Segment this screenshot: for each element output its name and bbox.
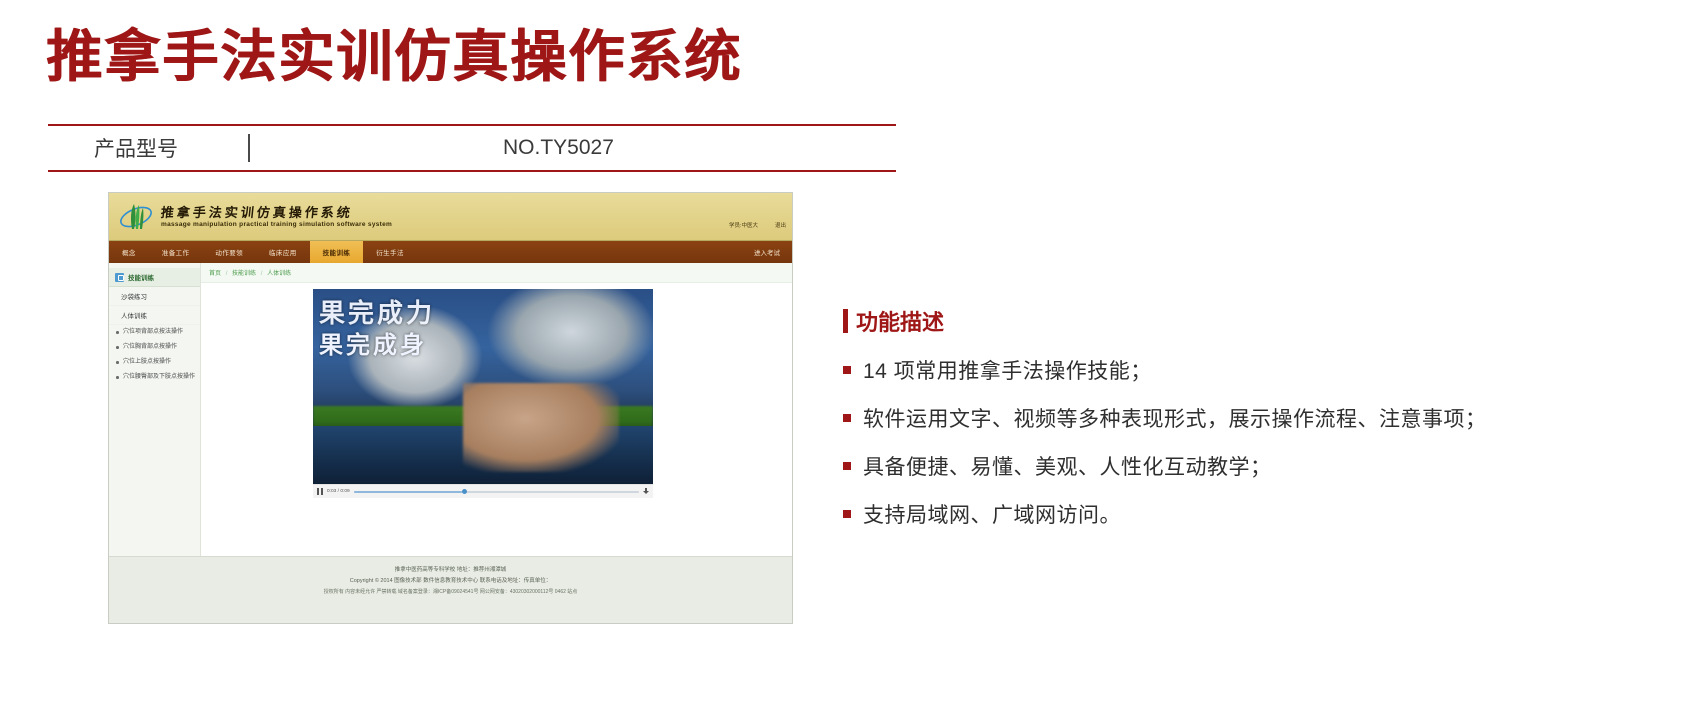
model-divider	[248, 134, 250, 162]
sidebar-sub-item-3[interactable]: 穴位上肢点按操作	[109, 355, 200, 370]
feature-accent-bar	[843, 309, 848, 333]
footer-line-1: 推拿中医药高等专科学校 地址：推荐州湘潭城	[109, 565, 792, 576]
feature-item-text: 软件运用文字、视频等多种表现形式，展示操作流程、注意事项；	[863, 403, 1487, 437]
model-label: 产品型号	[94, 133, 178, 163]
monitor-icon	[115, 273, 124, 282]
app-subtitle: massage manipulation practical training …	[161, 221, 392, 228]
video-hand-blur	[463, 383, 619, 473]
app-main: 首页 / 技能训练 / 人体训练 果完成力 果完成身 0:03 / 0:09	[201, 263, 792, 556]
app-nav: 概念 准备工作 动作要领 临床应用 技能训练 衍生手法 进入考试	[109, 241, 792, 263]
footer-line-2: Copyright © 2014 图像技术部 数件信息教育技术中心 联系电话及地…	[109, 576, 792, 587]
enter-exam-button[interactable]: 进入考试	[742, 241, 792, 263]
sidebar-sub-item-4[interactable]: 穴位腰臀部及下肢点按操作	[109, 370, 200, 385]
app-body: 技能训练 沙袋练习 人体训练 穴位项背部点按法操作 穴位胸背部点按操作 穴位上肢…	[109, 263, 792, 556]
bullet-square-icon	[843, 510, 851, 518]
breadcrumb: 首页 / 技能训练 / 人体训练	[201, 263, 792, 283]
download-icon[interactable]	[643, 488, 649, 495]
model-value: NO.TY5027	[503, 136, 614, 160]
app-sidebar: 技能训练 沙袋练习 人体训练 穴位项背部点按法操作 穴位胸背部点按操作 穴位上肢…	[109, 263, 201, 556]
sidebar-sub-item-2[interactable]: 穴位胸背部点按操作	[109, 340, 200, 355]
page-title: 推拿手法实训仿真操作系统	[46, 26, 742, 90]
nav-item-concept[interactable]: 概念	[109, 241, 149, 263]
nav-item-skill-training[interactable]: 技能训练	[310, 241, 364, 263]
feature-title: 功能描述	[856, 305, 944, 337]
video-progress-slider[interactable]	[354, 491, 639, 493]
feature-item-text: 具备便捷、易懂、美观、人性化互动教学；	[863, 451, 1272, 485]
nav-item-derived[interactable]: 衍生手法	[363, 241, 417, 263]
sidebar-sub-item-1[interactable]: 穴位项背部点按法操作	[109, 325, 200, 340]
pause-icon[interactable]	[317, 488, 323, 495]
model-row: 产品型号 NO.TY5027	[48, 126, 896, 170]
feature-item: 14 项常用推拿手法操作技能；	[843, 355, 1543, 389]
video-time-label: 0:03 / 0:09	[327, 489, 350, 494]
sidebar-item-human-training[interactable]: 人体训练	[109, 306, 200, 325]
feature-panel: 功能描述 14 项常用推拿手法操作技能； 软件运用文字、视频等多种表现形式，展示…	[843, 305, 1543, 547]
bullet-square-icon	[843, 414, 851, 422]
nav-item-preparation[interactable]: 准备工作	[149, 241, 203, 263]
app-header: 推拿手法实训仿真操作系统 massage manipulation practi…	[109, 193, 792, 241]
leaf-orbit-logo-icon	[118, 199, 154, 235]
video-player[interactable]: 果完成力 果完成身	[313, 289, 653, 484]
app-title: 推拿手法实训仿真操作系统	[160, 202, 354, 221]
feature-item-text: 支持局域网、广域网访问。	[863, 499, 1121, 533]
app-user-label: 学员:中医大	[729, 221, 758, 229]
breadcrumb-item-skill[interactable]: 技能训练	[232, 271, 256, 277]
product-model-bar: 产品型号 NO.TY5027	[48, 124, 896, 172]
feature-item: 支持局域网、广域网访问。	[843, 499, 1543, 533]
feature-header: 功能描述	[843, 305, 1543, 337]
sidebar-header: 技能训练	[109, 268, 200, 287]
bullet-square-icon	[843, 462, 851, 470]
breadcrumb-item-current: 人体训练	[267, 271, 291, 277]
feature-item: 软件运用文字、视频等多种表现形式，展示操作流程、注意事项；	[843, 403, 1543, 437]
logout-link[interactable]: 退出	[775, 221, 786, 229]
feature-item: 具备便捷、易懂、美观、人性化互动教学；	[843, 451, 1543, 485]
video-progress-fill	[354, 491, 462, 493]
footer-line-3: 授权所有 内容未经允许 严禁转载 域名备案登录：湘ICP备09024541号 网…	[109, 587, 792, 598]
nav-item-essentials[interactable]: 动作要领	[202, 241, 256, 263]
bullet-square-icon	[843, 366, 851, 374]
feature-item-text: 14 项常用推拿手法操作技能；	[863, 355, 1152, 389]
video-progress-knob[interactable]	[462, 489, 467, 494]
sidebar-item-sandbag[interactable]: 沙袋练习	[109, 287, 200, 306]
nav-item-clinical[interactable]: 临床应用	[256, 241, 310, 263]
sidebar-header-label: 技能训练	[128, 272, 154, 282]
breadcrumb-separator-2: /	[258, 271, 266, 277]
video-caption-line-2: 果完成身	[319, 325, 647, 360]
model-rule-bottom	[48, 170, 896, 172]
app-footer: 推拿中医药高等专科学校 地址：推荐州湘潭城 Copyright © 2014 图…	[109, 556, 792, 624]
app-screenshot: 推拿手法实训仿真操作系统 massage manipulation practi…	[108, 192, 793, 624]
video-controls: 0:03 / 0:09	[313, 484, 653, 498]
breadcrumb-item-home[interactable]: 首页	[209, 271, 221, 277]
breadcrumb-separator-1: /	[223, 271, 231, 277]
